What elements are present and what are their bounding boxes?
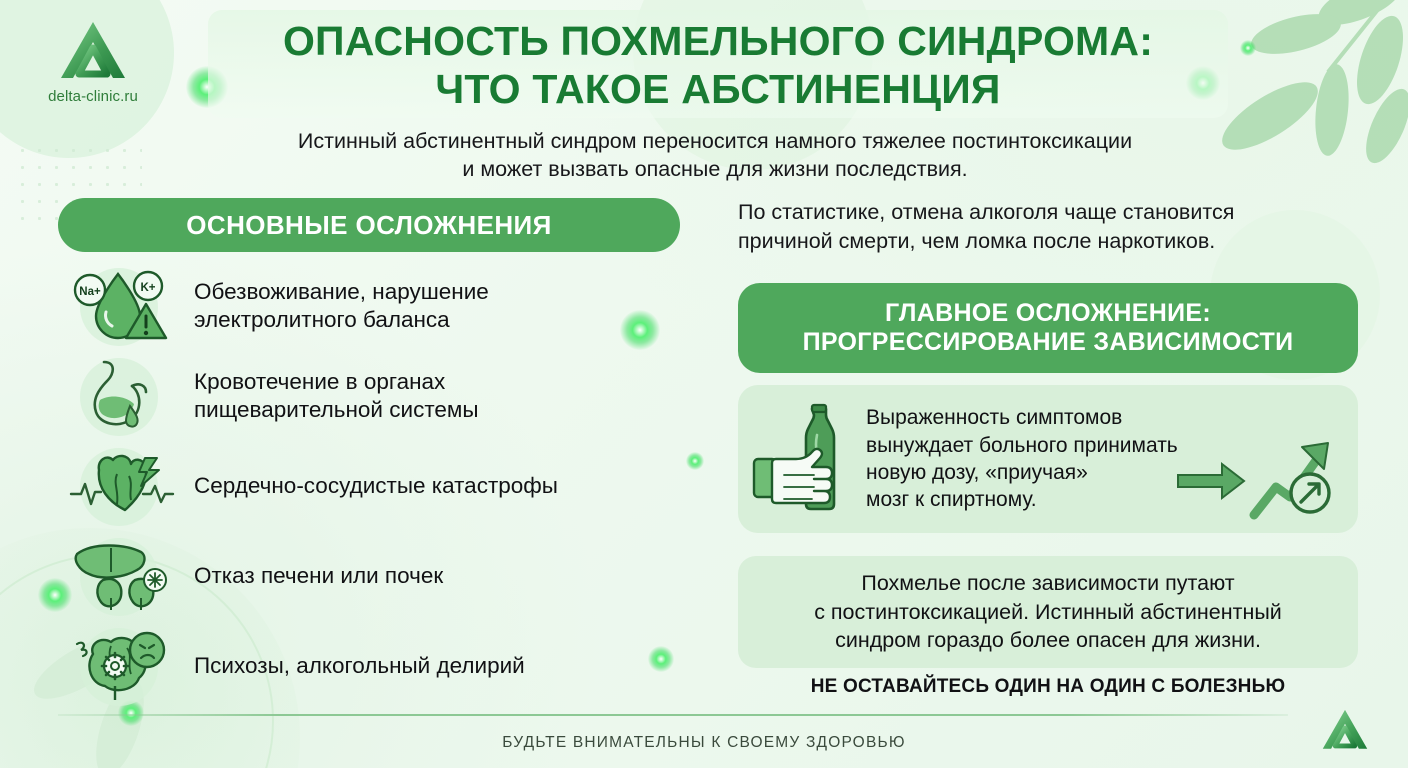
dependency-progression-card: Выраженность симптомов вынуждает больног… — [738, 385, 1358, 533]
confusion-line2: с постинтоксикацией. Истинный абстинентн… — [814, 598, 1282, 626]
glow-dot — [1240, 40, 1256, 56]
complications-list: Na+ K+ Обезвоживание, нарушение электрол… — [58, 262, 718, 712]
infographic-page: delta-clinic.ru ОПАСНОСТЬ ПОХМЕЛЬНОГО СИ… — [0, 0, 1408, 768]
dependency-line4: мозг к спиртному. — [866, 486, 1178, 513]
footer-note: БУДЬТЕ ВНИМАТЕЛЬНЫ К СВОЕМУ ЗДОРОВЬЮ — [0, 734, 1408, 752]
list-item-line2: пищеварительной системы — [194, 396, 479, 424]
page-title-line2: ЧТО ТАКОЕ АБСТИНЕНЦИЯ — [208, 66, 1228, 114]
confusion-line1: Похмелье после зависимости путают — [814, 569, 1282, 597]
stomach-bleeding-icon — [58, 352, 186, 440]
page-subtitle-line2: и может вызвать опасные для жизни послед… — [160, 155, 1270, 183]
dependency-line3: новую дозу, «приучая» — [866, 459, 1178, 486]
footer-divider — [58, 714, 1288, 716]
page-title-line1: ОПАСНОСТЬ ПОХМЕЛЬНОГО СИНДРОМА: — [208, 18, 1228, 66]
dependency-line2: вынуждает больного принимать — [866, 432, 1178, 459]
page-subtitle: Истинный абстинентный синдром переноситс… — [160, 127, 1270, 184]
main-complication-banner: ГЛАВНОЕ ОСЛОЖНЕНИЕ: ПРОГРЕССИРОВАНИЕ ЗАВ… — [738, 283, 1358, 373]
svg-text:Na+: Na+ — [79, 286, 101, 298]
list-item-text: Обезвоживание, нарушение электролитного … — [186, 278, 489, 335]
confusion-note-card: Похмелье после зависимости путают с пост… — [738, 556, 1358, 668]
statistics-line2: причиной смерти, чем ломка после наркоти… — [738, 227, 1378, 256]
hand-holding-bottle-icon — [738, 401, 866, 517]
rising-trend-arrow-icon — [1176, 431, 1344, 523]
list-item: Сердечно-сосудистые катастрофы — [58, 442, 718, 530]
list-item-text: Отказ печени или почек — [186, 562, 443, 590]
list-item-text: Сердечно-сосудистые катастрофы — [186, 472, 558, 500]
dependency-text: Выраженность симптомов вынуждает больног… — [866, 404, 1184, 513]
main-complication-line1: ГЛАВНОЕ ОСЛОЖНЕНИЕ: — [885, 299, 1211, 328]
main-complication-line2: ПРОГРЕССИРОВАНИЕ ЗАВИСИМОСТИ — [803, 328, 1294, 357]
statistics-text: По статистике, отмена алкоголя чаще стан… — [738, 198, 1378, 256]
call-to-action-text: НЕ ОСТАВАЙТЕСЬ ОДИН НА ОДИН С БОЛЕЗНЬЮ — [738, 676, 1358, 698]
list-item: Кровотечение в органах пищеварительной с… — [58, 352, 718, 440]
list-item-text: Кровотечение в органах пищеварительной с… — [186, 368, 479, 425]
section-header-label: ОСНОВНЫЕ ОСЛОЖНЕНИЯ — [186, 210, 551, 241]
list-item: Психозы, алкогольный делирий — [58, 622, 718, 710]
list-item-line1: Сердечно-сосудистые катастрофы — [194, 472, 558, 500]
section-header-main-complications: ОСНОВНЫЕ ОСЛОЖНЕНИЯ — [58, 198, 680, 252]
list-item-line1: Обезвоживание, нарушение — [194, 278, 489, 306]
list-item: Na+ K+ Обезвоживание, нарушение электрол… — [58, 262, 718, 350]
page-title: ОПАСНОСТЬ ПОХМЕЛЬНОГО СИНДРОМА: ЧТО ТАКО… — [208, 18, 1228, 113]
water-drop-electrolytes-icon: Na+ K+ — [58, 262, 186, 350]
confusion-line3: синдром гораздо более опасен для жизни. — [814, 626, 1282, 654]
dependency-line1: Выраженность симптомов — [866, 404, 1178, 431]
page-subtitle-line1: Истинный абстинентный синдром переноситс… — [160, 127, 1270, 155]
list-item-line1: Отказ печени или почек — [194, 562, 443, 590]
delta-triangle-logo-icon — [57, 18, 129, 84]
footer-delta-triangle-logo-icon — [1320, 706, 1370, 754]
list-item-line2: электролитного баланса — [194, 306, 489, 334]
list-item-line1: Кровотечение в органах — [194, 368, 479, 396]
brain-psychosis-icon — [58, 622, 186, 710]
svg-text:K+: K+ — [140, 282, 155, 294]
statistics-line1: По статистике, отмена алкоголя чаще стан… — [738, 198, 1378, 227]
list-item-line1: Психозы, алкогольный делирий — [194, 652, 525, 680]
list-item-text: Психозы, алкогольный делирий — [186, 652, 525, 680]
list-item: Отказ печени или почек — [58, 532, 718, 620]
heart-attack-icon — [58, 442, 186, 530]
brand-logo-block[interactable]: delta-clinic.ru — [28, 18, 158, 105]
liver-kidney-failure-icon — [58, 532, 186, 620]
confusion-note-text: Похмелье после зависимости путают с пост… — [796, 569, 1300, 654]
brand-site-label: delta-clinic.ru — [28, 88, 158, 105]
